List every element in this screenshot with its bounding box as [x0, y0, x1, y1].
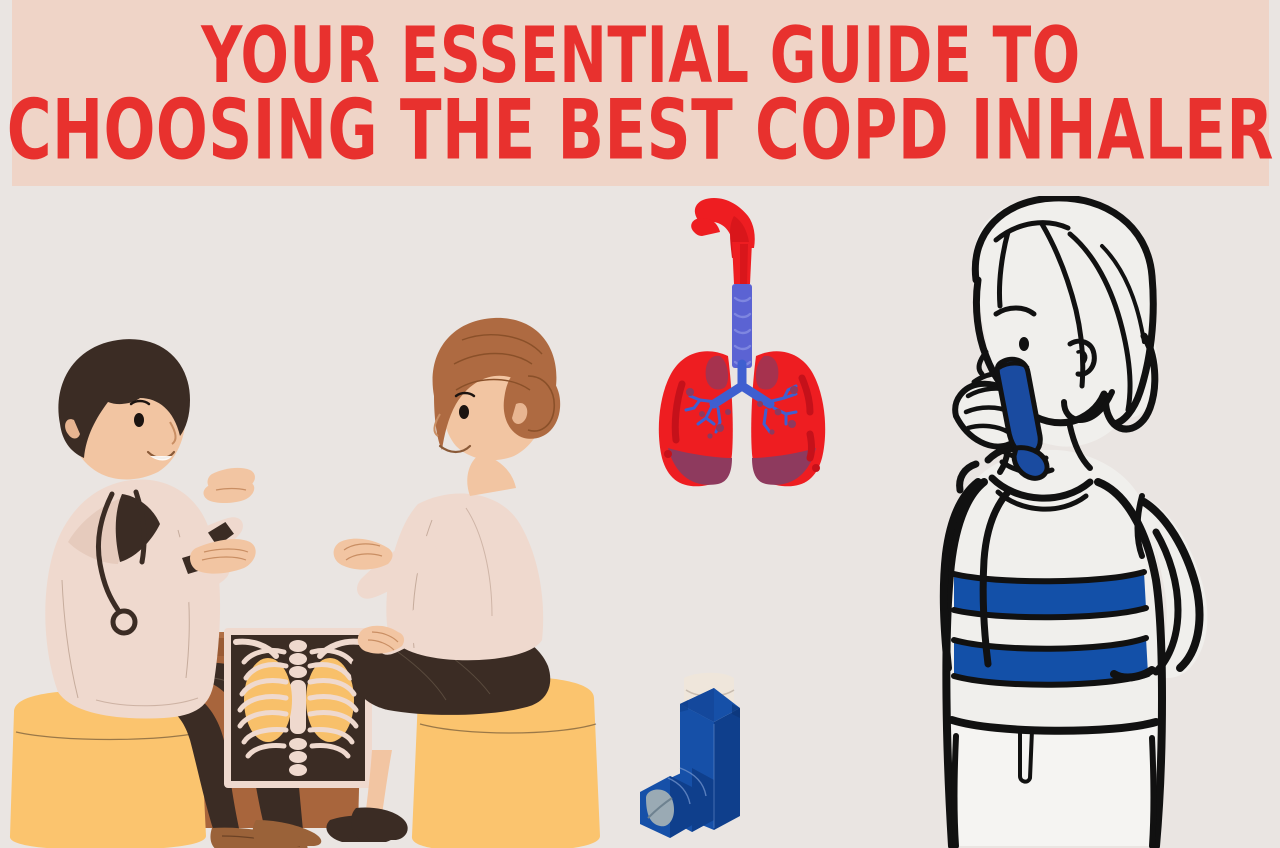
- woman-using-inhaler-illustration: [856, 196, 1276, 848]
- blue-inhaler-illustration: [630, 668, 800, 848]
- inhaler-group: [640, 673, 740, 838]
- doctor-patient-consultation-illustration: [0, 280, 620, 848]
- title-banner: YOUR ESSENTIAL GUIDE TO CHOOSING THE BES…: [12, 0, 1269, 186]
- poster-canvas: YOUR ESSENTIAL GUIDE TO CHOOSING THE BES…: [0, 0, 1280, 848]
- chest-xray-image: [224, 628, 372, 788]
- lungs-diagram-illustration: [636, 196, 842, 496]
- lungs-group: [659, 198, 825, 486]
- consultation-group: [10, 318, 600, 848]
- page-title-line-2: CHOOSING THE BEST COPD INHALER: [7, 91, 1274, 171]
- woman-group: [944, 196, 1208, 846]
